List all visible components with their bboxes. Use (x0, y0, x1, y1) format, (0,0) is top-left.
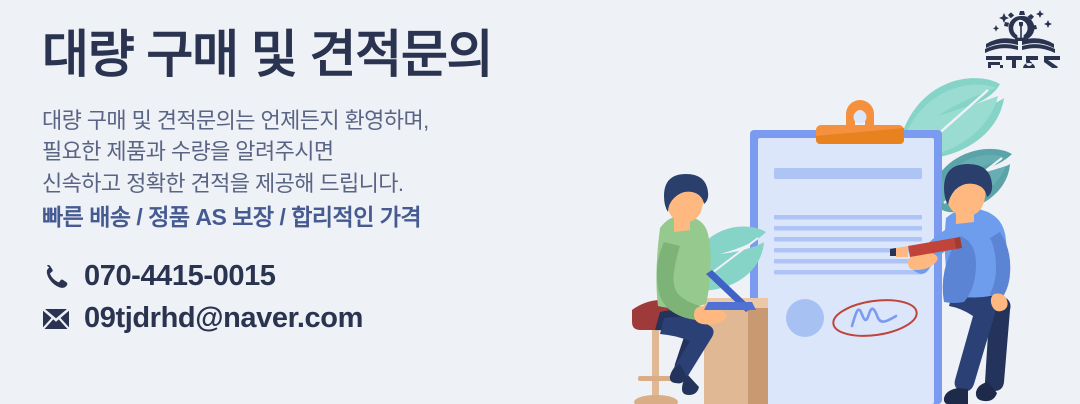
phone-number: 070-4415-0015 (84, 260, 276, 293)
benefits-highlight: 빠른 배송 / 정품 AS 보장 / 합리적인 가격 (42, 201, 662, 234)
description-line-2: 필요한 제품과 수량을 알려주시면 (42, 136, 662, 167)
description-line-1: 대량 구매 및 견적문의는 언제든지 환영하며, (42, 105, 662, 136)
email-address: 09tjdrhd@naver.com (84, 302, 363, 335)
phone-icon (42, 263, 70, 291)
contact-row-email[interactable]: 09tjdrhd@naver.com (42, 302, 662, 335)
blue-stamp-circle (786, 299, 824, 337)
page-title: 대량 구매 및 견적문의 (42, 26, 662, 83)
gonggu-wiz-logo[interactable] (974, 6, 1066, 68)
description-block: 대량 구매 및 견적문의는 언제든지 환영하며, 필요한 제품과 수량을 알려주… (42, 105, 662, 233)
orange-clip (816, 100, 904, 144)
description-line-3: 신속하고 정확한 견적을 제공해 드립니다. (42, 168, 662, 199)
envelope-icon (42, 305, 70, 333)
contact-row-phone[interactable]: 070-4415-0015 (42, 260, 662, 293)
contact-list: 070-4415-0015 09tjdrhd@naver.com (42, 260, 662, 335)
bulk-purchase-quote-banner: 대량 구매 및 견적문의 대량 구매 및 견적문의는 언제든지 환영하며, 필요… (0, 0, 1080, 404)
text-block: 대량 구매 및 견적문의 대량 구매 및 견적문의는 언제든지 환영하며, 필요… (42, 26, 662, 344)
